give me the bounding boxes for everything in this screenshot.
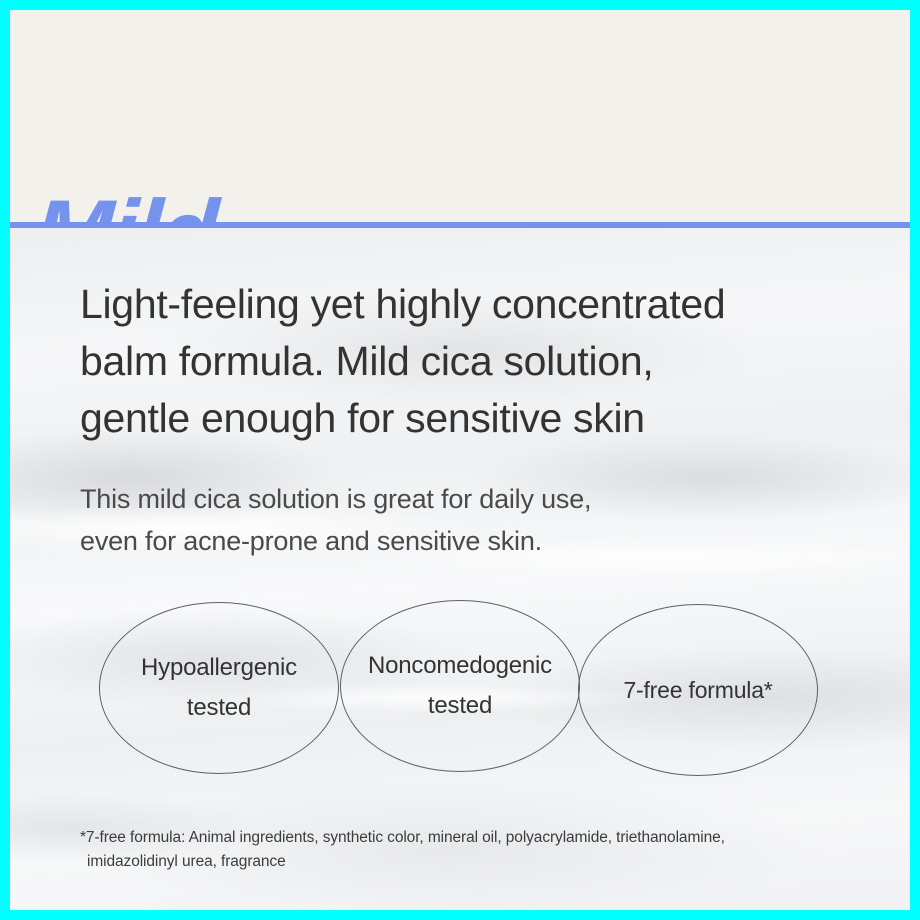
product-title: Mild Formula: [10, 10, 411, 228]
claim-badge-noncomedogenic: Noncomedogenic tested: [340, 600, 580, 772]
subcopy-line-2: even for acne-prone and sensitive skin.: [80, 520, 840, 562]
claim-badge-hypoallergenic: Hypoallergenic tested: [99, 602, 339, 774]
promo-card: Mild Formula Light-feeling yet highly co…: [10, 10, 910, 910]
subcopy: This mild cica solution is great for dai…: [80, 478, 840, 562]
header-band: Mild Formula: [10, 10, 910, 228]
headline-line-1: Light-feeling yet highly concentrated: [80, 276, 880, 333]
claim-badge-group: Hypoallergenic tested Noncomedogenic tes…: [10, 596, 910, 786]
headline-line-2: balm formula. Mild cica solution,: [80, 333, 880, 390]
claim-badge-line-1: 7-free formula*: [583, 670, 813, 710]
claim-badge-line-2: tested: [345, 686, 575, 726]
footnote-line-1: *7-free formula: Animal ingredients, syn…: [80, 826, 890, 850]
cream-texture-background: Light-feeling yet highly concentrated ba…: [10, 228, 910, 910]
headline-line-3: gentle enough for sensitive skin: [80, 390, 880, 447]
claim-badge-label: 7-free formula*: [583, 670, 813, 710]
claim-badge-label: Hypoallergenic tested: [104, 648, 334, 728]
headline: Light-feeling yet highly concentrated ba…: [80, 276, 880, 447]
footnote: *7-free formula: Animal ingredients, syn…: [80, 826, 890, 874]
claim-badge-line-1: Hypoallergenic: [104, 648, 334, 688]
claim-badge-label: Noncomedogenic tested: [345, 646, 575, 726]
claim-badge-line-2: tested: [104, 688, 334, 728]
claim-badge-line-1: Noncomedogenic: [345, 646, 575, 686]
subcopy-line-1: This mild cica solution is great for dai…: [80, 478, 840, 520]
claim-badge-seven-free: 7-free formula*: [578, 604, 818, 776]
footnote-line-2: imidazolidinyl urea, fragrance: [80, 850, 890, 874]
